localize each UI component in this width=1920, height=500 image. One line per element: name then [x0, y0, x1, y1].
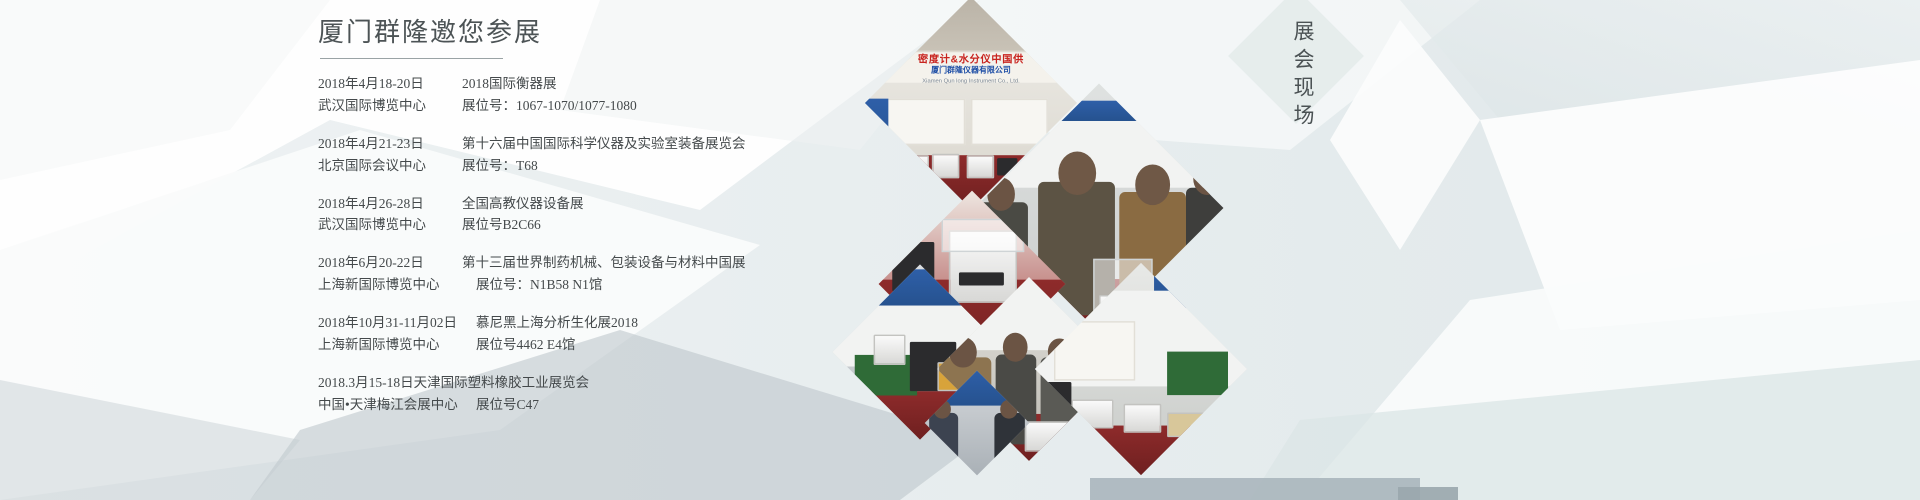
event-venue: 武汉国际博览中心: [318, 214, 436, 236]
event-name: 第十六届中国国际科学仪器及实验室装备展览会: [462, 133, 746, 155]
banner-stage: 厦门群隆邀您参展 2018年4月18-20日 2018国际衡器展 武汉国际博览中…: [0, 0, 1920, 500]
event-name: 2018国际衡器展: [462, 73, 557, 95]
event-date: 2018年6月20-22日: [318, 252, 436, 274]
event-venue: 武汉国际博览中心: [318, 95, 436, 117]
event-venue: 上海新国际博览中心: [318, 334, 458, 356]
event-name: 全国高教仪器设备展: [462, 193, 584, 215]
event-name: 第十三届世界制药机械、包装设备与材料中国展: [462, 252, 746, 274]
vertical-label-text: 展会现场: [1288, 20, 1318, 132]
event-venue: 北京国际会议中心: [318, 155, 436, 177]
event-booth: 展位号：N1B58 N1馆: [476, 274, 602, 296]
event-date: 2018年4月21-23日: [318, 133, 436, 155]
booth-banner-main: 密度计&水分仪中国供: [871, 52, 1071, 65]
bottom-bar-right: [1398, 487, 1458, 500]
title-underline: [320, 58, 503, 59]
booth-banner-sub: 厦门群隆仪器有限公司: [871, 65, 1071, 76]
event-venue: 上海新国际博览中心: [318, 274, 458, 296]
event-booth: 展位号4462 E4馆: [476, 334, 575, 356]
event-booth: 展位号：1067-1070/1077-1080: [462, 95, 637, 117]
event-date: 2018年10月31-11月02日: [318, 312, 458, 334]
event-booth: 展位号：T68: [462, 155, 538, 177]
photo-collage: 密度计&水分仪中国供 厦门群隆仪器有限公司 Xiamen Qun long In…: [880, 0, 1210, 500]
event-venue: 中国•天津梅江会展中心: [318, 394, 458, 416]
event-name: 慕尼黑上海分析生化展2018: [476, 312, 638, 334]
event-booth: 展位号B2C66: [462, 214, 541, 236]
event-booth: 展位号C47: [476, 394, 539, 416]
event-date: 2018年4月18-20日: [318, 73, 436, 95]
event-date: 2018年4月26-28日: [318, 193, 436, 215]
booth-banner-en: Xiamen Qun long Instrument Co., Ltd.: [871, 76, 1071, 83]
